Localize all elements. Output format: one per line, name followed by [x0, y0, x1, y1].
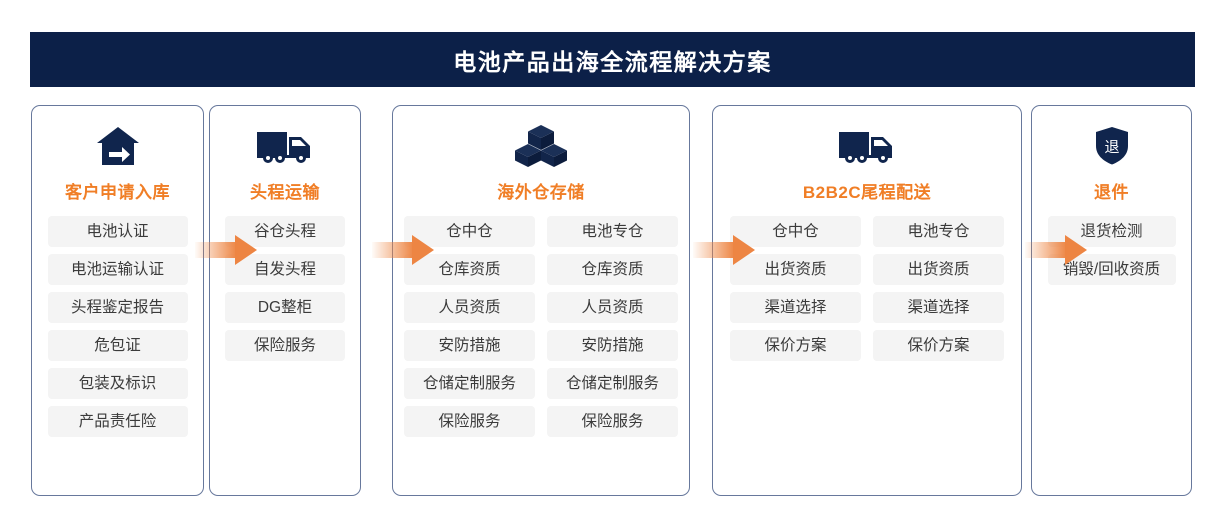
stage-item[interactable]: 仓储定制服务 — [404, 368, 535, 399]
stage-items-column: 谷仓头程 自发头程 DG整柜 保险服务 — [225, 216, 345, 361]
stage-item[interactable]: 仓库资质 — [404, 254, 535, 285]
stage-item[interactable]: 产品责任险 — [48, 406, 188, 437]
header-banner: 电池产品出海全流程解决方案 — [30, 32, 1195, 87]
stage-item[interactable]: 销毁/回收资质 — [1048, 254, 1176, 285]
truck-icon — [837, 123, 897, 169]
process-flow-row: 客户申请入库 电池认证 电池运输认证 头程鉴定报告 危包证 包装及标识 产品责任… — [31, 105, 1192, 496]
shield-return-icon: 退 — [1095, 123, 1129, 169]
stage-title: 海外仓存储 — [497, 178, 585, 203]
stage-items-column: 电池专仓 仓库资质 人员资质 安防措施 仓储定制服务 保险服务 — [547, 216, 678, 437]
stage-item[interactable]: 仓库资质 — [547, 254, 678, 285]
stage-items-column: 仓中仓 仓库资质 人员资质 安防措施 仓储定制服务 保险服务 — [404, 216, 535, 437]
stage-item[interactable]: 人员资质 — [404, 292, 535, 323]
stage-item[interactable]: 安防措施 — [404, 330, 535, 361]
stage-item[interactable]: 头程鉴定报告 — [48, 292, 188, 323]
stage-item[interactable]: 电池专仓 — [547, 216, 678, 247]
stage-card-b2b2c-last-mile[interactable]: B2B2C尾程配送 仓中仓 出货资质 渠道选择 保价方案 电池专仓 出货资质 渠… — [712, 105, 1022, 496]
stage-item[interactable]: 仓中仓 — [730, 216, 861, 247]
stage-item[interactable]: 电池专仓 — [873, 216, 1004, 247]
svg-text:退: 退 — [1104, 139, 1119, 156]
stage-items-column: 电池认证 电池运输认证 头程鉴定报告 危包证 包装及标识 产品责任险 — [48, 216, 188, 437]
stage-item[interactable]: 仓储定制服务 — [547, 368, 678, 399]
stage-item[interactable]: 保价方案 — [730, 330, 861, 361]
stage-item[interactable]: DG整柜 — [225, 292, 345, 323]
page-title: 电池产品出海全流程解决方案 — [453, 43, 772, 77]
stage-title: 退件 — [1094, 178, 1129, 203]
truck-icon — [255, 123, 315, 169]
stage-item[interactable]: 包装及标识 — [48, 368, 188, 399]
stage-card-first-leg-transport[interactable]: 头程运输 谷仓头程 自发头程 DG整柜 保险服务 — [209, 105, 361, 496]
stage-card-overseas-warehouse-storage[interactable]: 海外仓存储 仓中仓 仓库资质 人员资质 安防措施 仓储定制服务 保险服务 电池专… — [392, 105, 690, 496]
stage-item[interactable]: 安防措施 — [547, 330, 678, 361]
stage-item[interactable]: 渠道选择 — [873, 292, 1004, 323]
stage-item[interactable]: 渠道选择 — [730, 292, 861, 323]
stage-items-column: 退货检测 销毁/回收资质 — [1048, 216, 1176, 285]
stage-items-column: 电池专仓 出货资质 渠道选择 保价方案 — [873, 216, 1004, 361]
stage-item[interactable]: 谷仓头程 — [225, 216, 345, 247]
stage-item[interactable]: 人员资质 — [547, 292, 678, 323]
stage-item[interactable]: 电池运输认证 — [48, 254, 188, 285]
boxes-icon — [514, 123, 568, 169]
stage-title: B2B2C尾程配送 — [803, 178, 931, 203]
stage-card-customer-application[interactable]: 客户申请入库 电池认证 电池运输认证 头程鉴定报告 危包证 包装及标识 产品责任… — [31, 105, 204, 496]
stage-item[interactable]: 出货资质 — [730, 254, 861, 285]
stage-title: 头程运输 — [250, 178, 320, 203]
stage-item[interactable]: 危包证 — [48, 330, 188, 361]
stage-item[interactable]: 退货检测 — [1048, 216, 1176, 247]
stage-item[interactable]: 仓中仓 — [404, 216, 535, 247]
stage-item[interactable]: 出货资质 — [873, 254, 1004, 285]
stage-items-column: 仓中仓 出货资质 渠道选择 保价方案 — [730, 216, 861, 361]
stage-item[interactable]: 保险服务 — [404, 406, 535, 437]
warehouse-arrow-icon — [95, 123, 141, 169]
stage-item[interactable]: 自发头程 — [225, 254, 345, 285]
stage-item[interactable]: 电池认证 — [48, 216, 188, 247]
stage-card-returns[interactable]: 退 退件 退货检测 销毁/回收资质 — [1031, 105, 1192, 496]
stage-item[interactable]: 保险服务 — [225, 330, 345, 361]
stage-title: 客户申请入库 — [65, 178, 170, 203]
stage-item[interactable]: 保险服务 — [547, 406, 678, 437]
stage-item[interactable]: 保价方案 — [873, 330, 1004, 361]
